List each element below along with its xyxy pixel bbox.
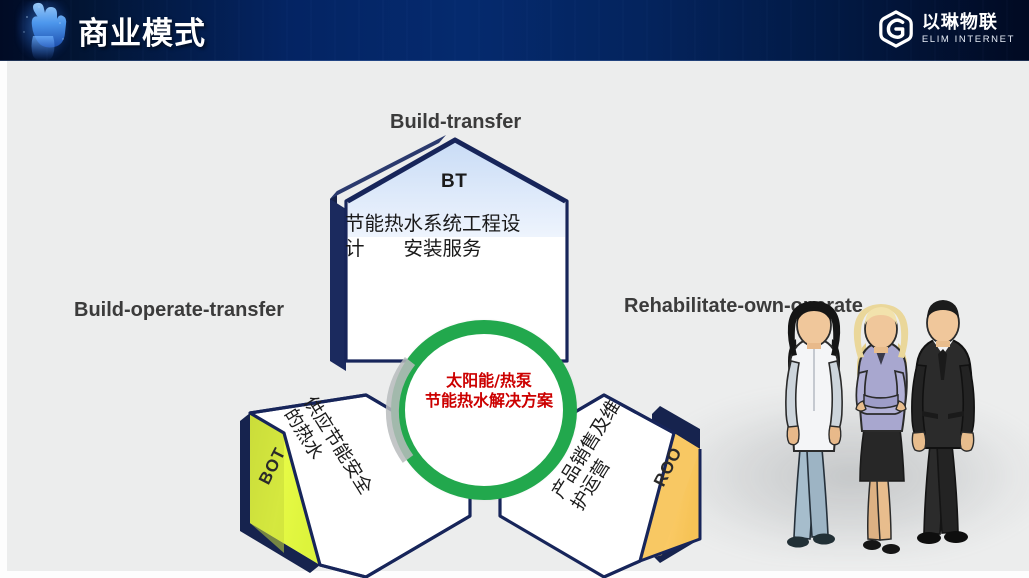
slide-header: 商业模式 以琳物联 ELIM INTERNET <box>0 0 1029 61</box>
slide-canvas: 商业模式 以琳物联 ELIM INTERNET Build-transfer B… <box>0 0 1029 578</box>
page-title: 商业模式 <box>78 8 206 53</box>
figure-woman-lavender-blazer <box>854 304 908 554</box>
logo-name-cn: 以琳物联 <box>922 14 1015 32</box>
raised-fist-icon <box>14 0 72 61</box>
figure-woman-white-shirt <box>786 301 842 548</box>
brand-logo: 以琳物联 ELIM INTERNET <box>877 10 1015 48</box>
elim-g-hexagon-mark <box>877 10 915 48</box>
figure-man-black-suit <box>912 300 974 544</box>
slide-body: Build-transfer Build-operate-transfer Re… <box>0 61 1029 578</box>
logo-name-en: ELIM INTERNET <box>922 35 1015 45</box>
center-ring <box>389 318 579 502</box>
business-people-illustration <box>760 299 1000 578</box>
